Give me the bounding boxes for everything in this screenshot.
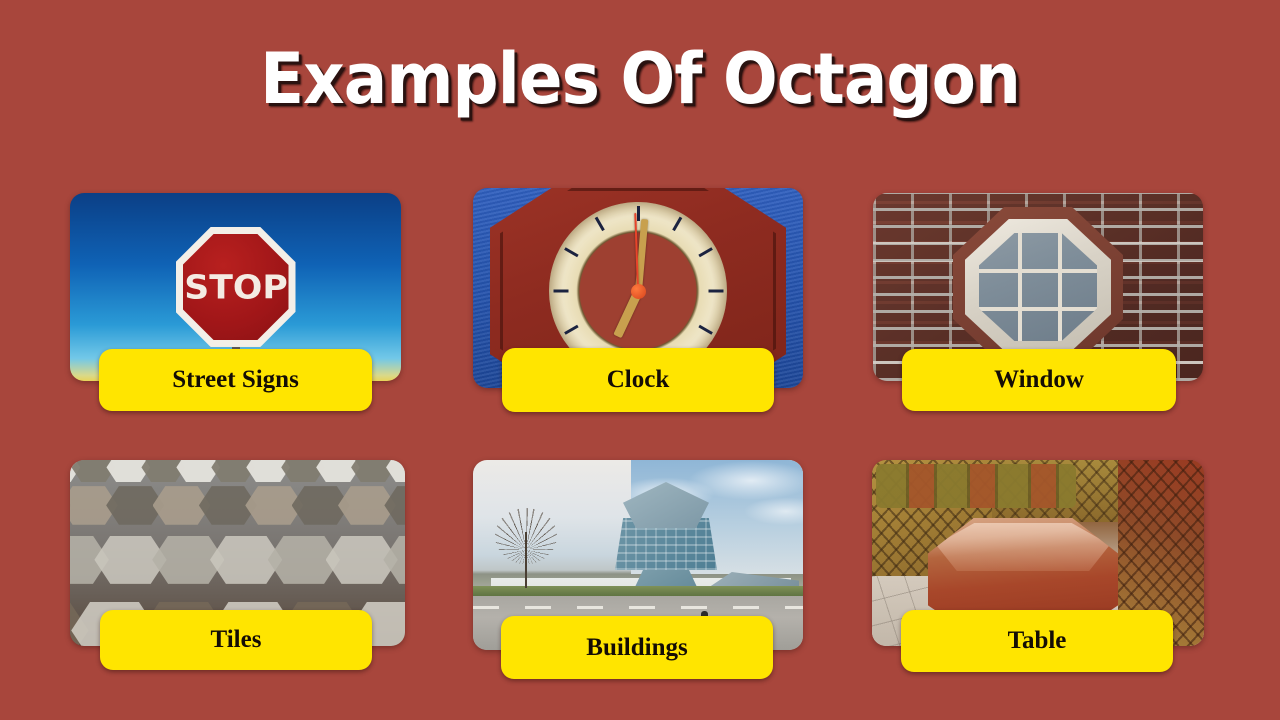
cushions	[876, 464, 1076, 508]
tile-hexagon	[316, 460, 360, 482]
window-glass-panes	[979, 233, 1097, 341]
tile-hexagon	[211, 460, 255, 482]
card-label-buildings: Buildings	[501, 616, 773, 679]
clock-second-hand	[634, 213, 639, 291]
card-table[interactable]: Table	[872, 460, 1204, 646]
card-label-street-signs: Street Signs	[99, 349, 372, 411]
clock-center-cap	[631, 284, 646, 299]
clock-hour-hand	[613, 289, 642, 338]
card-label-window: Window	[902, 349, 1176, 411]
card-street-signs[interactable]: STOP Street Signs	[70, 193, 401, 381]
tree-icon	[525, 532, 527, 588]
tile-hexagon	[281, 460, 325, 482]
tile-hexagon	[72, 460, 116, 482]
window-icon	[953, 207, 1123, 367]
card-label-table: Table	[901, 610, 1173, 672]
card-clock[interactable]: Clock	[473, 188, 803, 388]
tile-hexagon	[351, 460, 395, 482]
card-label-clock: Clock	[502, 348, 774, 412]
page-title: Examples Of Octagon	[51, 44, 1229, 114]
card-window[interactable]: Window	[873, 193, 1203, 381]
card-label-tiles: Tiles	[100, 610, 372, 670]
tile-hexagon	[106, 460, 150, 482]
tile-hexagon	[246, 460, 290, 482]
tile-hexagon	[176, 460, 220, 482]
slide-root: Examples Of Octagon STOP Street Signs	[0, 0, 1280, 720]
card-tiles[interactable]: Tiles	[70, 460, 405, 646]
stop-sign-text: STOP	[173, 268, 299, 307]
stop-sign-icon: STOP	[176, 227, 296, 347]
tile-hexagon	[384, 486, 405, 525]
clock-minute-hand	[635, 219, 648, 291]
window-frame	[965, 219, 1111, 355]
grass-strip	[473, 586, 803, 596]
card-buildings[interactable]: Buildings	[473, 460, 803, 650]
tile-hexagon	[386, 460, 405, 482]
tile-hexagon	[141, 460, 185, 482]
